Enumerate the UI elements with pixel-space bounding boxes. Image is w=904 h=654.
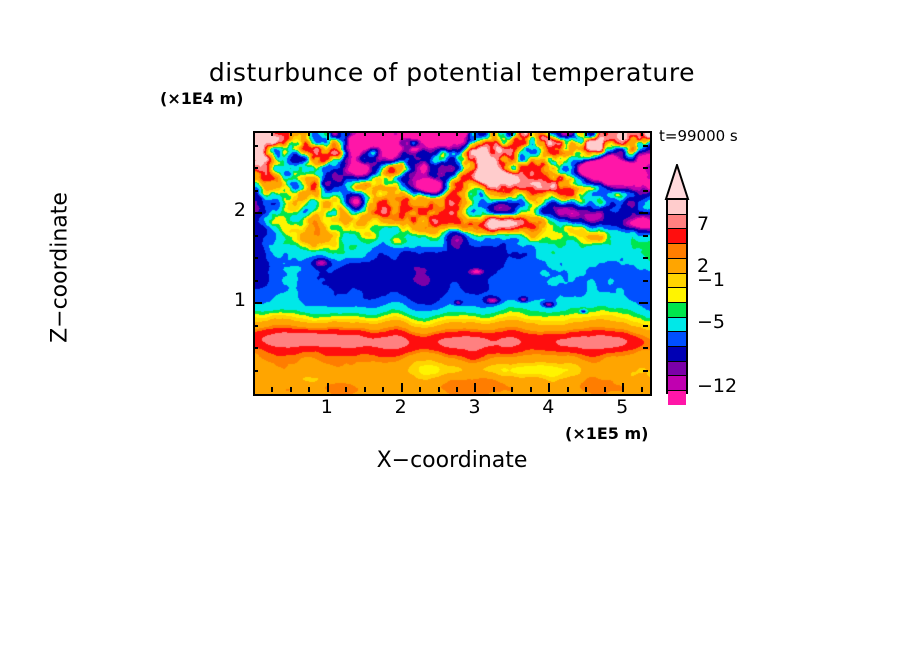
axis-tick: [548, 383, 550, 392]
colorbar-segment: [668, 332, 686, 347]
axis-tick: [474, 131, 476, 140]
axis-tick: [253, 145, 258, 147]
axis-tick: [271, 387, 273, 392]
colorbar-segment: [668, 259, 686, 274]
axis-tick: [548, 131, 550, 140]
colorbar-segment: [668, 303, 686, 318]
x-tick-label: 4: [528, 396, 568, 418]
colorbar-segment: [668, 376, 686, 391]
axis-tick: [622, 383, 624, 392]
axis-tick: [253, 235, 258, 237]
axis-tick: [643, 145, 648, 147]
axis-tick: [567, 131, 569, 136]
colorbar-segment: [668, 288, 686, 303]
axis-tick: [401, 383, 403, 392]
contour-plot-area: [253, 131, 652, 396]
y-axis-unit-label: (×1E4 m): [160, 89, 243, 108]
axis-tick: [641, 387, 643, 392]
axis-tick: [290, 131, 292, 136]
axis-tick: [327, 383, 329, 392]
colorbar-tick-label: −1: [697, 269, 725, 291]
axis-tick: [253, 190, 258, 192]
axis-tick: [364, 131, 366, 136]
axis-tick: [622, 131, 624, 140]
axis-tick: [493, 131, 495, 136]
axis-tick: [456, 387, 458, 392]
axis-tick: [530, 387, 532, 392]
colorbar-segment: [668, 391, 686, 405]
x-tick-label: 3: [454, 396, 494, 418]
colorbar: [663, 164, 693, 394]
axis-tick: [253, 347, 258, 349]
axis-tick: [419, 131, 421, 136]
axis-tick: [253, 280, 258, 282]
axis-tick: [474, 383, 476, 392]
colorbar-segment: [668, 362, 686, 377]
colorbar-segment: [668, 318, 686, 333]
axis-tick: [643, 257, 648, 259]
axis-tick: [438, 131, 440, 136]
axis-tick: [438, 387, 440, 392]
axis-tick: [511, 387, 513, 392]
axis-tick: [567, 387, 569, 392]
axis-tick: [604, 387, 606, 392]
axis-tick: [253, 212, 262, 214]
x-tick-label: 5: [602, 396, 642, 418]
axis-tick: [253, 302, 262, 304]
axis-tick: [643, 235, 648, 237]
axis-tick: [382, 131, 384, 136]
colorbar-tick-label: −5: [697, 311, 725, 333]
x-tick-label: 1: [307, 396, 347, 418]
colorbar-arrow-icon: [663, 164, 691, 200]
axis-tick: [639, 212, 648, 214]
page-title: disturbunce of potential temperature: [0, 58, 904, 87]
axis-tick: [345, 387, 347, 392]
y-tick-label: 2: [224, 199, 246, 221]
colorbar-segment: [668, 244, 686, 259]
axis-tick: [643, 167, 648, 169]
axis-tick: [511, 131, 513, 136]
colorbar-tick-label: −12: [697, 375, 737, 397]
y-axis-title: Z−coordinate: [48, 138, 73, 398]
axis-tick: [530, 131, 532, 136]
colorbar-bands: [666, 198, 688, 394]
axis-tick: [253, 325, 258, 327]
axis-tick: [308, 131, 310, 136]
colorbar-segment: [668, 200, 686, 215]
x-tick-label: 2: [381, 396, 421, 418]
axis-tick: [253, 370, 258, 372]
axis-tick: [401, 131, 403, 140]
axis-tick: [290, 387, 292, 392]
axis-tick: [639, 302, 648, 304]
colorbar-segment: [668, 274, 686, 289]
colorbar-segment: [668, 229, 686, 244]
axis-tick: [419, 387, 421, 392]
axis-tick: [585, 387, 587, 392]
axis-tick: [604, 131, 606, 136]
axis-tick: [253, 167, 258, 169]
colorbar-segment: [668, 347, 686, 362]
axis-tick: [643, 370, 648, 372]
time-annotation: t=99000 s: [659, 127, 738, 145]
axis-tick: [456, 131, 458, 136]
axis-tick: [345, 131, 347, 136]
y-tick-label: 1: [224, 289, 246, 311]
axis-tick: [643, 347, 648, 349]
axis-tick: [585, 131, 587, 136]
axis-tick: [643, 280, 648, 282]
axis-tick: [382, 387, 384, 392]
axis-tick: [643, 190, 648, 192]
axis-tick: [327, 131, 329, 140]
axis-tick: [271, 131, 273, 136]
x-axis-unit-label: (×1E5 m): [565, 424, 648, 443]
axis-tick: [641, 131, 643, 136]
colorbar-tick-label: 7: [697, 213, 709, 235]
x-axis-title: X−coordinate: [0, 448, 904, 473]
colorbar-segment: [668, 215, 686, 230]
axis-tick: [364, 387, 366, 392]
contour-field-canvas: [255, 133, 650, 394]
axis-tick: [493, 387, 495, 392]
axis-tick: [253, 257, 258, 259]
axis-tick: [643, 325, 648, 327]
axis-tick: [308, 387, 310, 392]
